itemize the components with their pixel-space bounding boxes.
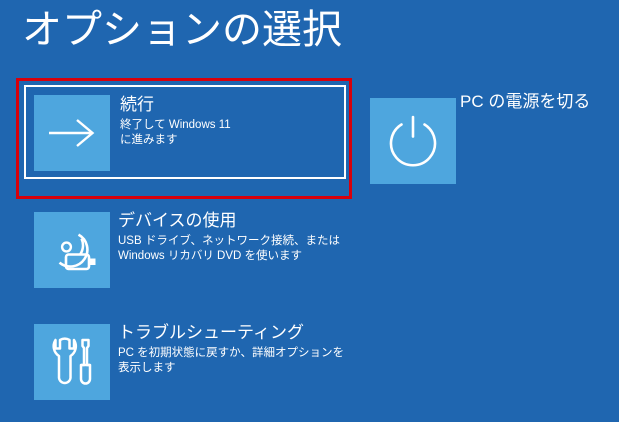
- use-a-device-text: デバイスの使用 USB ドライブ、ネットワーク接続、または Windows リカ…: [118, 209, 340, 264]
- option-title: トラブルシューティング: [118, 321, 340, 345]
- choose-an-option-screen: オプションの選択 続行 終了して Windows 11 に進みます: [0, 0, 619, 422]
- option-troubleshoot[interactable]: トラブルシューティング PC を初期状態に戻すか、詳細オプションを 表示します: [26, 317, 344, 405]
- option-description: 終了して Windows 11 に進みます: [120, 118, 340, 148]
- option-continue[interactable]: 続行 終了して Windows 11 に進みます: [24, 85, 346, 179]
- power-icon: [383, 111, 443, 171]
- option-description-line-2: 表示します: [118, 361, 340, 376]
- option-description-line-1: PC を初期状態に戻すか、詳細オプションを: [118, 346, 340, 361]
- page-title: オプションの選択: [22, 2, 342, 58]
- option-description-line-1: USB ドライブ、ネットワーク接続、または: [118, 234, 340, 249]
- arrow-right-icon: [47, 116, 97, 150]
- use-a-device-tile: [34, 212, 110, 288]
- option-description: USB ドライブ、ネットワーク接続、または Windows リカバリ DVD を…: [118, 234, 340, 264]
- option-title: 続行: [120, 93, 340, 117]
- option-title: デバイスの使用: [118, 209, 340, 233]
- option-description: PC を初期状態に戻すか、詳細オプションを 表示します: [118, 346, 340, 376]
- option-description-line-1: 終了して Windows 11: [120, 118, 340, 133]
- troubleshoot-tile: [34, 324, 110, 400]
- option-description-line-2: に進みます: [120, 133, 340, 148]
- option-description-line-2: Windows リカバリ DVD を使います: [118, 249, 340, 264]
- turn-off-pc-tile: [370, 98, 456, 184]
- continue-text: 続行 終了して Windows 11 に進みます: [120, 93, 340, 148]
- wrench-screwdriver-icon: [49, 337, 95, 387]
- disc-usb-icon: [45, 226, 99, 274]
- continue-tile: [34, 95, 110, 171]
- option-use-a-device[interactable]: デバイスの使用 USB ドライブ、ネットワーク接続、または Windows リカ…: [26, 205, 344, 293]
- troubleshoot-text: トラブルシューティング PC を初期状態に戻すか、詳細オプションを 表示します: [118, 321, 340, 376]
